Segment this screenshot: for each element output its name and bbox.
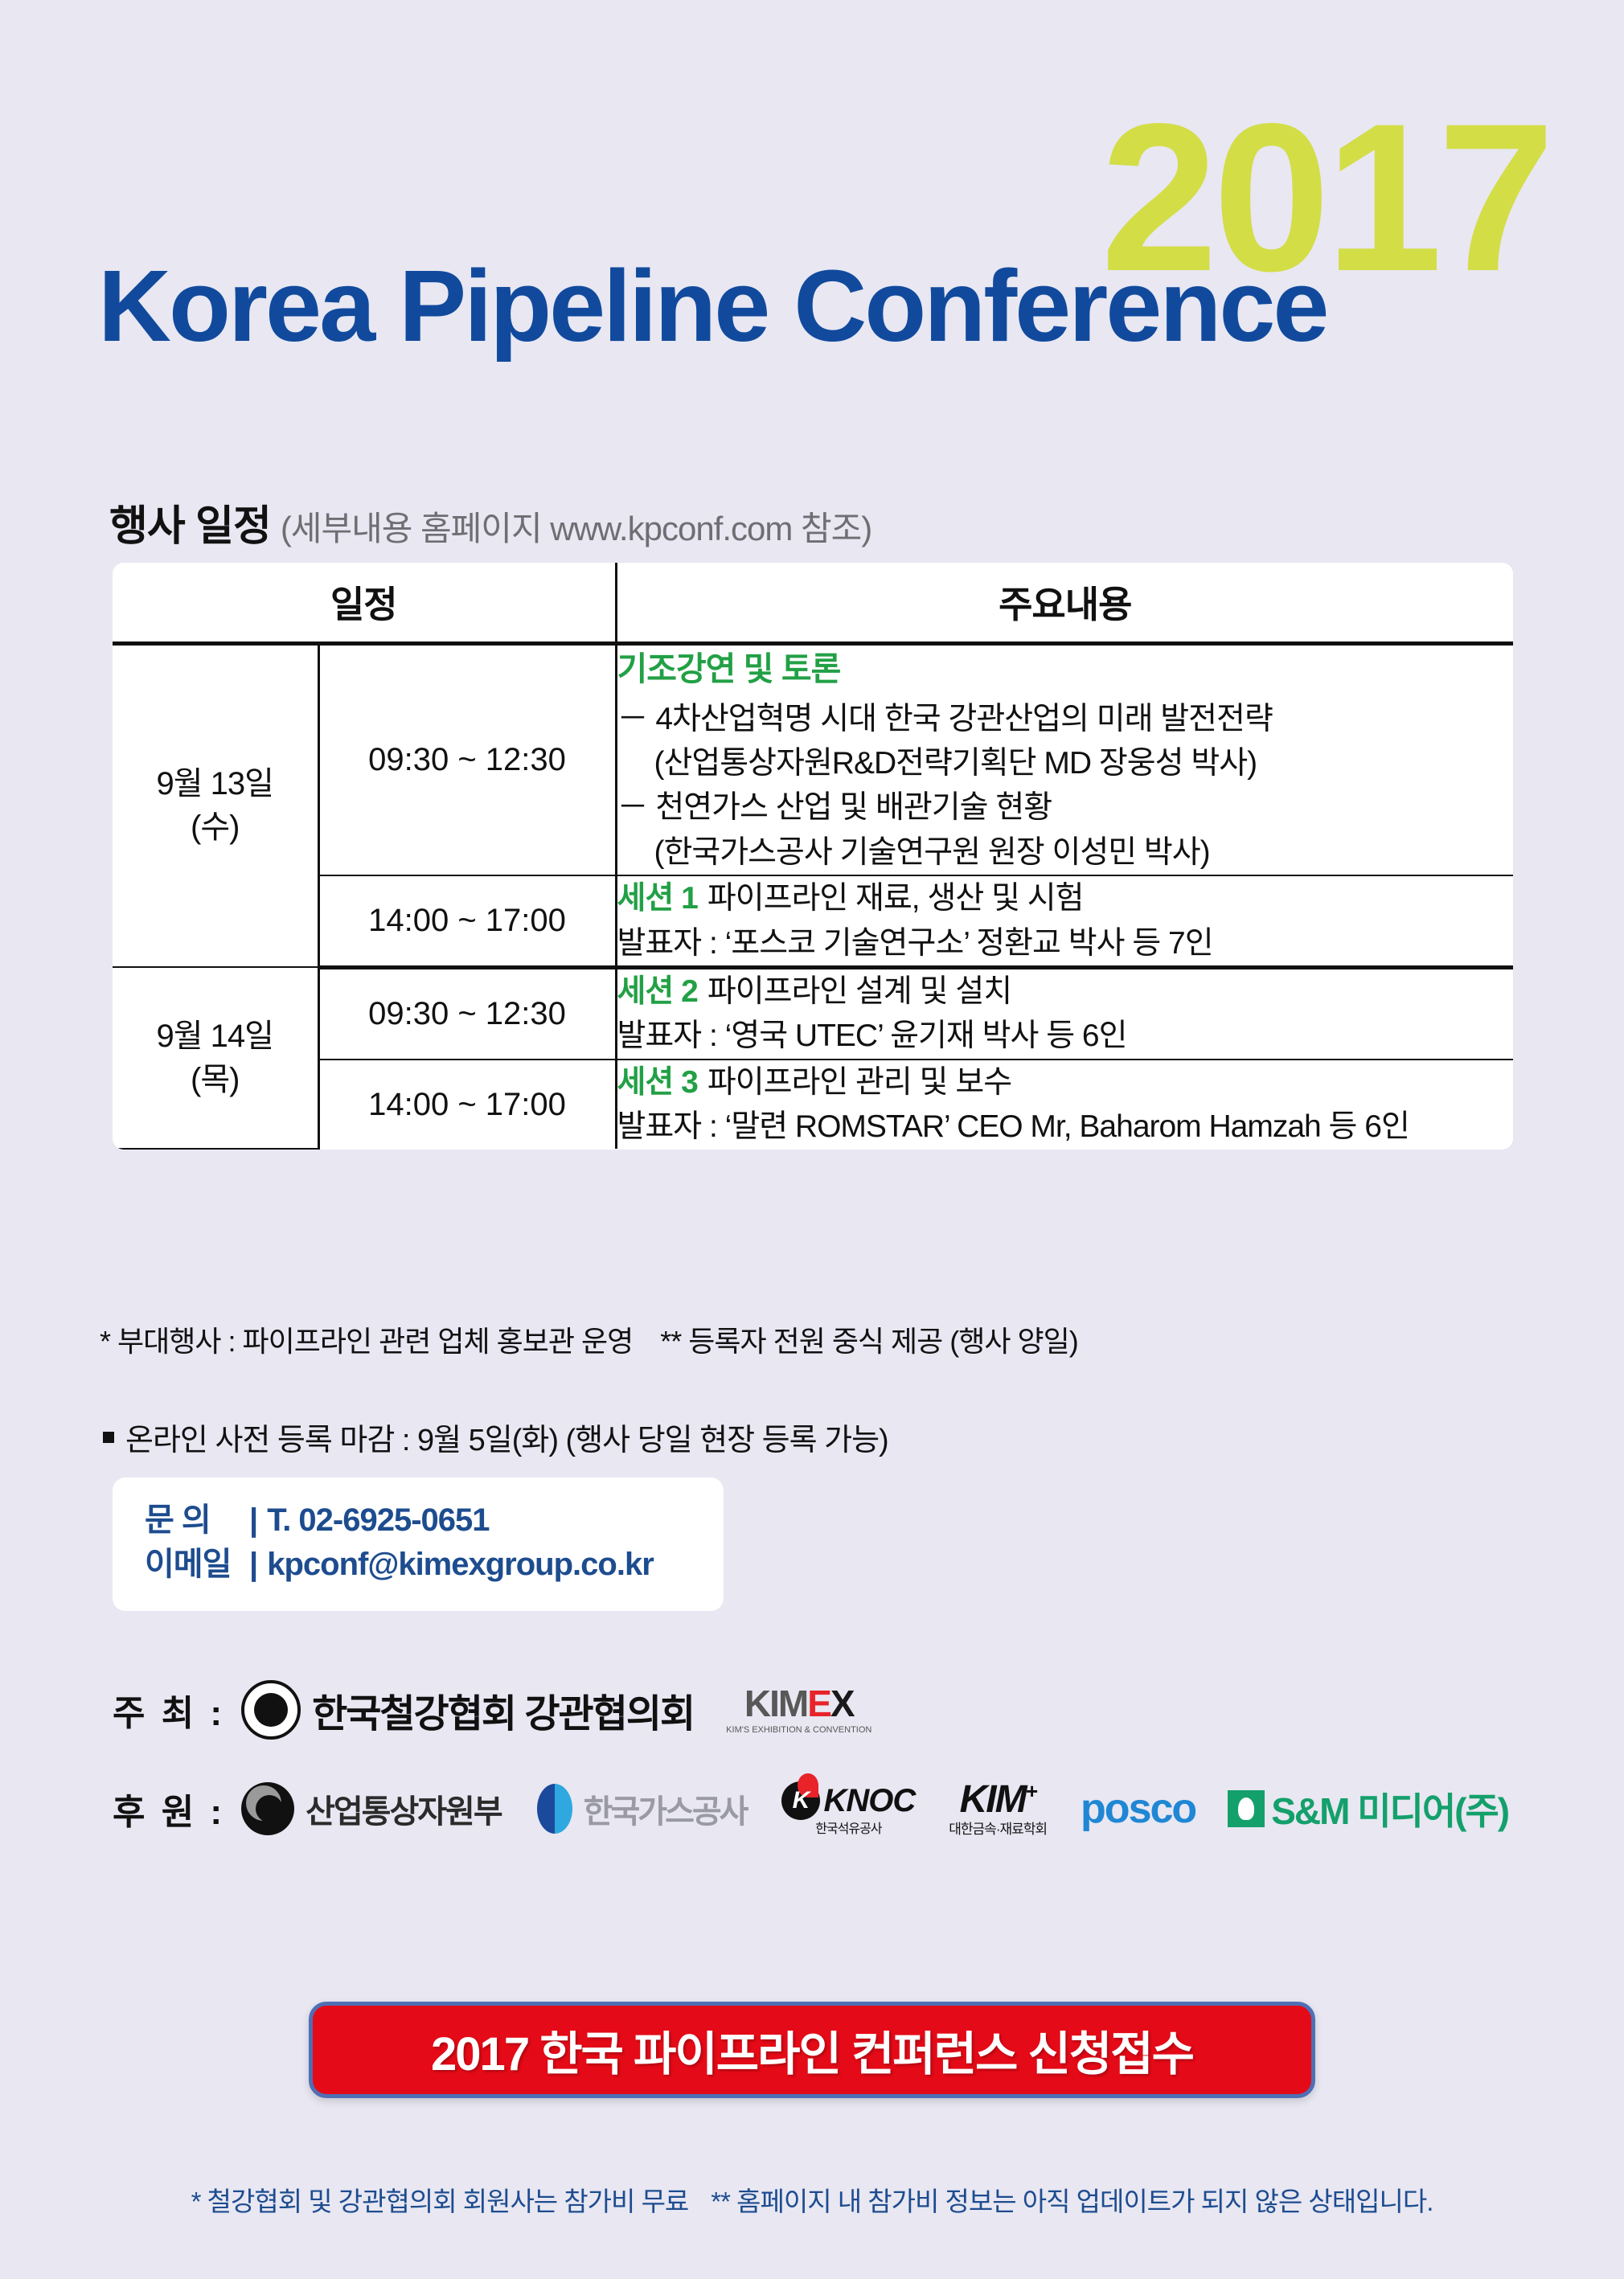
kimex-tagline: KIM'S EXHIBITION & CONVENTION bbox=[726, 1726, 871, 1735]
knoc-noc-text: KNOC bbox=[823, 1785, 915, 1817]
cell-time: 09:30 ~ 12:30 bbox=[318, 967, 616, 1059]
contact-phone-row: 문 의|T. 02-6925-0651 bbox=[145, 1498, 696, 1543]
posco-logo-icon: posco bbox=[1081, 1785, 1195, 1833]
sponsor-kogas-name: 한국가스공사 bbox=[584, 1785, 747, 1832]
organizer-kosa-name: 한국철강협회 강관협의회 bbox=[312, 1682, 694, 1738]
date-line-1: 9월 14일 bbox=[113, 1014, 318, 1058]
kim-logo-icon: KIM+ 대한금속·재료학회 bbox=[949, 1781, 1047, 1836]
kogas-logo-icon bbox=[537, 1784, 572, 1834]
smmedia-logo-icon: S&M 미디어(주) bbox=[1228, 1782, 1508, 1835]
keynote-line-3: － 천연가스 산업 및 배관기술 현황 bbox=[617, 785, 1513, 830]
keynote-line-4: (한국가스공사 기술연구원 원장 이성민 박사) bbox=[617, 830, 1513, 875]
organizer-label: 주 최 : bbox=[113, 1684, 225, 1736]
sponsor-motie-name: 산업통상자원부 bbox=[306, 1785, 502, 1832]
session-title-line: 세션 2파이프라인 설계 및 설치 bbox=[617, 969, 1513, 1014]
cell-time: 14:00 ~ 17:00 bbox=[318, 1060, 616, 1150]
contact-box: 문 의|T. 02-6925-0651 이메일|kpconf@kimexgrou… bbox=[113, 1478, 724, 1611]
cell-content: 세션 1파이프라인 재료, 생산 및 시험 발표자 : ‘포스코 기술연구소’ … bbox=[616, 875, 1513, 967]
footer-note: * 철강협회 및 강관협의회 회원사는 참가비 무료** 홈페이지 내 참가비 … bbox=[191, 2180, 1433, 2219]
kosa-seal-icon bbox=[241, 1680, 301, 1740]
session-title-line: 세션 3파이프라인 관리 및 보수 bbox=[617, 1060, 1513, 1105]
contact-email-label: 이메일 bbox=[145, 1543, 240, 1587]
cell-content: 세션 2파이프라인 설계 및 설치 발표자 : ‘영국 UTEC’ 윤기재 박사… bbox=[616, 967, 1513, 1059]
keynote-line-2: (산업통상자원R&D전략기획단 MD 장웅성 박사) bbox=[617, 741, 1513, 785]
column-header-schedule: 일정 bbox=[113, 563, 616, 643]
cell-date-sep14: 9월 14일 (목) bbox=[113, 967, 318, 1149]
sponsor-label: 후 원 : bbox=[113, 1783, 225, 1834]
column-header-content: 주요내용 bbox=[616, 563, 1513, 643]
contact-phone-label: 문 의 bbox=[145, 1498, 240, 1543]
keynote-heading: 기조강연 및 토론 bbox=[617, 646, 1513, 692]
organizer-row: 주 최 : 한국철강협회 강관협의회 KIMEX KIM'S EXHIBITIO… bbox=[113, 1680, 880, 1740]
masthead: 2017 Korea Pipeline Conference bbox=[0, 0, 1624, 418]
cell-content: 세션 3파이프라인 관리 및 보수 발표자 : ‘말련 ROMSTAR’ CEO… bbox=[616, 1060, 1513, 1150]
auxiliary-note-right: ** 등록자 전원 중식 제공 (행사 양일) bbox=[660, 1325, 1078, 1358]
contact-email-value[interactable]: kpconf@kimexgroup.co.kr bbox=[267, 1547, 654, 1582]
table-row: 9월 14일 (목) 09:30 ~ 12:30 세션 2파이프라인 설계 및 … bbox=[113, 967, 1513, 1059]
sponsor-row: 후 원 : 산업통상자원부 한국가스공사 K KNOC 한국석유공사 KIM+ … bbox=[113, 1781, 1508, 1836]
motie-logo-icon bbox=[241, 1782, 294, 1835]
knoc-wordmark: K KNOC bbox=[781, 1781, 915, 1820]
session-title-line: 세션 1파이프라인 재료, 생산 및 시험 bbox=[617, 876, 1513, 920]
contact-phone-value[interactable]: T. 02-6925-0651 bbox=[267, 1502, 489, 1538]
footer-note-right: ** 홈페이지 내 참가비 정보는 아직 업데이트가 되지 않은 상태입니다. bbox=[711, 2187, 1433, 2216]
contact-separator: | bbox=[249, 1547, 257, 1582]
schedule-heading-main: 행사 일정 bbox=[109, 492, 271, 552]
session-tag: 세션 2 bbox=[617, 974, 698, 1009]
session-presenter: 발표자 : ‘포스코 기술연구소’ 정환교 박사 등 7인 bbox=[617, 921, 1513, 965]
registration-cta-button[interactable]: 2017 한국 파이프라인 컨퍼런스 신청접수 bbox=[309, 2002, 1315, 2098]
session-presenter: 발표자 : ‘영국 UTEC’ 윤기재 박사 등 6인 bbox=[617, 1014, 1513, 1058]
registration-cta-label: 2017 한국 파이프라인 컨퍼런스 신청접수 bbox=[431, 2016, 1193, 2084]
cell-time: 09:30 ~ 12:30 bbox=[318, 643, 616, 875]
kimex-logo-icon: KIMEX KIM'S EXHIBITION & CONVENTION bbox=[726, 1685, 871, 1735]
session-topic: 파이프라인 재료, 생산 및 시험 bbox=[707, 881, 1084, 916]
session-tag: 세션 1 bbox=[617, 881, 698, 916]
smmedia-mark-glyph bbox=[1228, 1790, 1265, 1827]
date-line-2: (수) bbox=[113, 805, 318, 849]
table-header-row: 일정 주요내용 bbox=[113, 563, 1513, 643]
date-line-1: 9월 13일 bbox=[113, 762, 318, 805]
registration-note-text: 온라인 사전 등록 마감 : 9월 5일(화) (행사 당일 현장 등록 가능) bbox=[125, 1415, 888, 1459]
conference-poster: 2017 Korea Pipeline Conference 행사 일정 (세부… bbox=[0, 0, 1624, 2279]
auxiliary-note-left: * 부대행사 : 파이프라인 관련 업체 홍보관 운영 bbox=[100, 1325, 633, 1358]
schedule-table: 일정 주요내용 9월 13일 (수) 09:30 ~ 12:30 기조강연 및 … bbox=[113, 563, 1513, 1150]
auxiliary-note: * 부대행사 : 파이프라인 관련 업체 홍보관 운영** 등록자 전원 중식 … bbox=[100, 1318, 1078, 1360]
square-bullet-icon bbox=[103, 1432, 114, 1443]
cell-time: 14:00 ~ 17:00 bbox=[318, 875, 616, 967]
footer-note-left: * 철강협회 및 강관협의회 회원사는 참가비 무료 bbox=[191, 2187, 689, 2216]
contact-separator: | bbox=[249, 1502, 257, 1538]
cell-content: 기조강연 및 토론 － 4차산업혁명 시대 한국 강관산업의 미래 발전전략 (… bbox=[616, 643, 1513, 875]
session-topic: 파이프라인 설계 및 설치 bbox=[707, 974, 1011, 1009]
session-tag: 세션 3 bbox=[617, 1065, 698, 1100]
kim-letters: KIM bbox=[960, 1778, 1026, 1821]
schedule-table-wrapper: 일정 주요내용 9월 13일 (수) 09:30 ~ 12:30 기조강연 및 … bbox=[113, 563, 1513, 1150]
registration-note: 온라인 사전 등록 마감 : 9월 5일(화) (행사 당일 현장 등록 가능) bbox=[103, 1415, 888, 1459]
kimex-wordmark: KIMEX bbox=[744, 1685, 854, 1722]
date-line-2: (목) bbox=[113, 1058, 318, 1101]
page-title: Korea Pipeline Conference bbox=[98, 256, 1327, 357]
session-presenter: 발표자 : ‘말련 ROMSTAR’ CEO Mr, Baharom Hamza… bbox=[617, 1105, 1513, 1149]
table-row: 14:00 ~ 17:00 세션 3파이프라인 관리 및 보수 발표자 : ‘말… bbox=[113, 1060, 1513, 1150]
contact-email-row: 이메일|kpconf@kimexgroup.co.kr bbox=[145, 1543, 696, 1587]
table-row: 9월 13일 (수) 09:30 ~ 12:30 기조강연 및 토론 － 4차산… bbox=[113, 643, 1513, 875]
session-topic: 파이프라인 관리 및 보수 bbox=[707, 1065, 1011, 1100]
cell-date-sep13: 9월 13일 (수) bbox=[113, 643, 318, 967]
table-row: 14:00 ~ 17:00 세션 1파이프라인 재료, 생산 및 시험 발표자 … bbox=[113, 875, 1513, 967]
knoc-logo-icon: K KNOC 한국석유공사 bbox=[781, 1781, 915, 1836]
knoc-k-glyph: K bbox=[781, 1781, 820, 1820]
knoc-korean-name: 한국석유공사 bbox=[815, 1823, 881, 1836]
keynote-line-1: － 4차산업혁명 시대 한국 강관산업의 미래 발전전략 bbox=[617, 697, 1513, 741]
schedule-heading: 행사 일정 (세부내용 홈페이지 www.kpconf.com 참조) bbox=[109, 492, 871, 552]
schedule-heading-sub: (세부내용 홈페이지 www.kpconf.com 참조) bbox=[281, 502, 871, 551]
smmedia-name: S&M 미디어(주) bbox=[1271, 1782, 1508, 1835]
kim-wordmark: KIM+ bbox=[960, 1781, 1036, 1819]
kim-korean-name: 대한금속·재료학회 bbox=[949, 1822, 1047, 1836]
